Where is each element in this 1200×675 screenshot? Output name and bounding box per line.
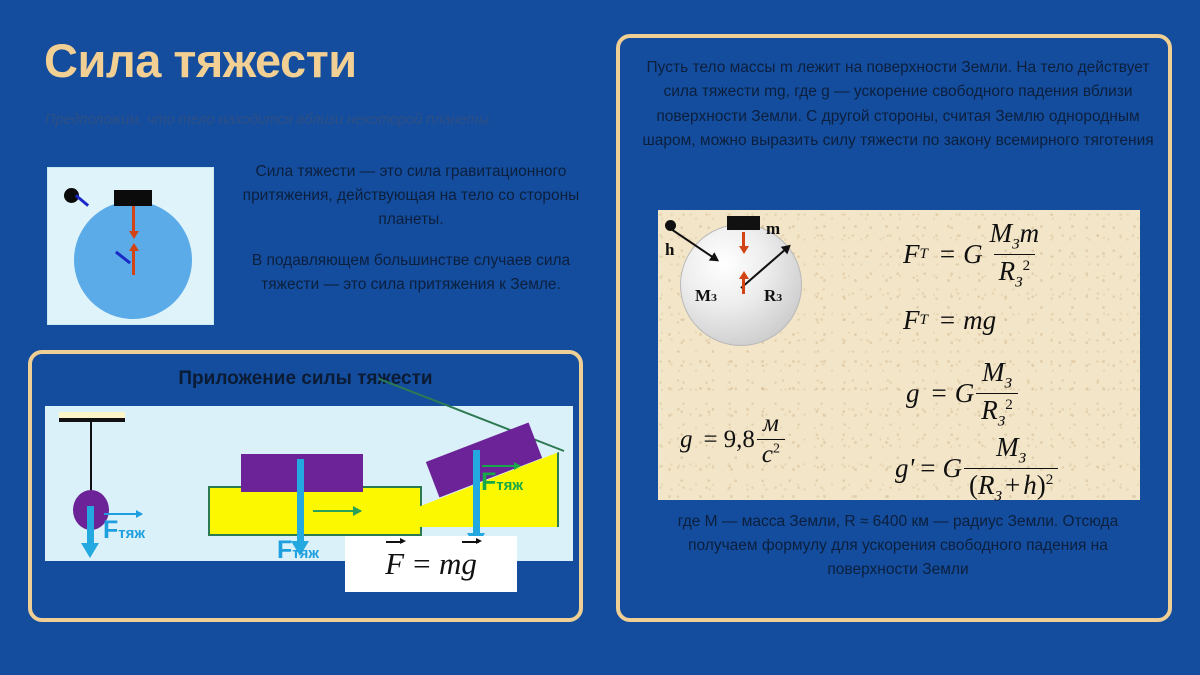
force-symbol: F [481,468,496,496]
force-subscript: тяж [496,477,523,494]
force-arrow-down-icon [132,206,135,232]
table-direction-arrow-icon [313,510,361,512]
label-m: m [766,219,780,239]
force-symbol: F [103,516,118,544]
earth-diagram: h m MЗ RЗ [658,210,838,370]
equation-m-symbol: m [439,546,461,582]
theory-intro-text: Пусть тело массы m лежит на поверхности … [636,56,1160,154]
slide-root: Сила тяжести Предположим, что тело наход… [0,0,1200,675]
earth-attraction-paragraph: В подавляющем большинстве случаев сила т… [221,249,601,297]
vector-bar-icon [104,513,142,515]
definition-paragraph: Сила тяжести — это сила гравитационного … [221,160,601,232]
left-column-text: Сила тяжести — это сила гравитационного … [221,160,601,297]
table-force-label: Fтяж [277,536,319,565]
force-symbol: F [277,536,292,564]
formula-g-value: g = 9,8 м c2 [680,410,787,469]
theory-panel: Пусть тело массы m лежит на поверхности … [616,34,1172,622]
formula-weight: FТ = mg [903,305,996,336]
earth-force-arrow-down-icon [742,232,745,247]
slide-subtitle: Предположим, что тело находится вблизи н… [45,108,570,133]
table-force-arrow-icon [297,459,304,542]
formula-board: h m MЗ RЗ FТ = G MЗm RЗ2 [658,210,1140,500]
pendulum-force-arrow-icon [87,506,94,544]
earth-body-block-shape [727,216,760,230]
label-h: h [665,240,674,260]
formula-newton-gravitation: FТ = G MЗm RЗ2 [903,218,1046,292]
incline-force-label: Fтяж [481,468,523,497]
page-title: Сила тяжести [44,36,357,85]
pendulum-string-shape [90,420,92,494]
pendulum-ceiling-shape [59,412,125,422]
pendulum-force-label: Fтяж [103,516,145,545]
planet-diagram [47,167,214,325]
label-earth-radius: RЗ [764,286,782,306]
force-subscript: тяж [118,525,145,542]
force-subscript: тяж [292,545,319,562]
theory-outro-text: где M — масса Земли, R ≈ 6400 км — радиу… [642,510,1154,582]
force-equation-box: F = m g [345,536,517,592]
formula-g-altitude: g' = G MЗ (RЗ+h)2 [895,432,1060,506]
force-arrow-up-icon [132,250,135,275]
label-earth-mass: MЗ [695,286,717,306]
equation-g-symbol: g [461,546,477,582]
vector-bar-icon [482,465,520,467]
incline-force-arrow-icon [473,450,480,534]
application-panel-heading: Приложение силы тяжести [32,368,579,390]
earth-force-arrow-up-icon [742,278,745,294]
equation-F-symbol: F [385,546,404,582]
equation-equals-symbol: = [404,546,439,582]
formula-g-surface: g = G MЗ RЗ2 [906,357,1020,431]
body-block-shape [114,190,152,206]
